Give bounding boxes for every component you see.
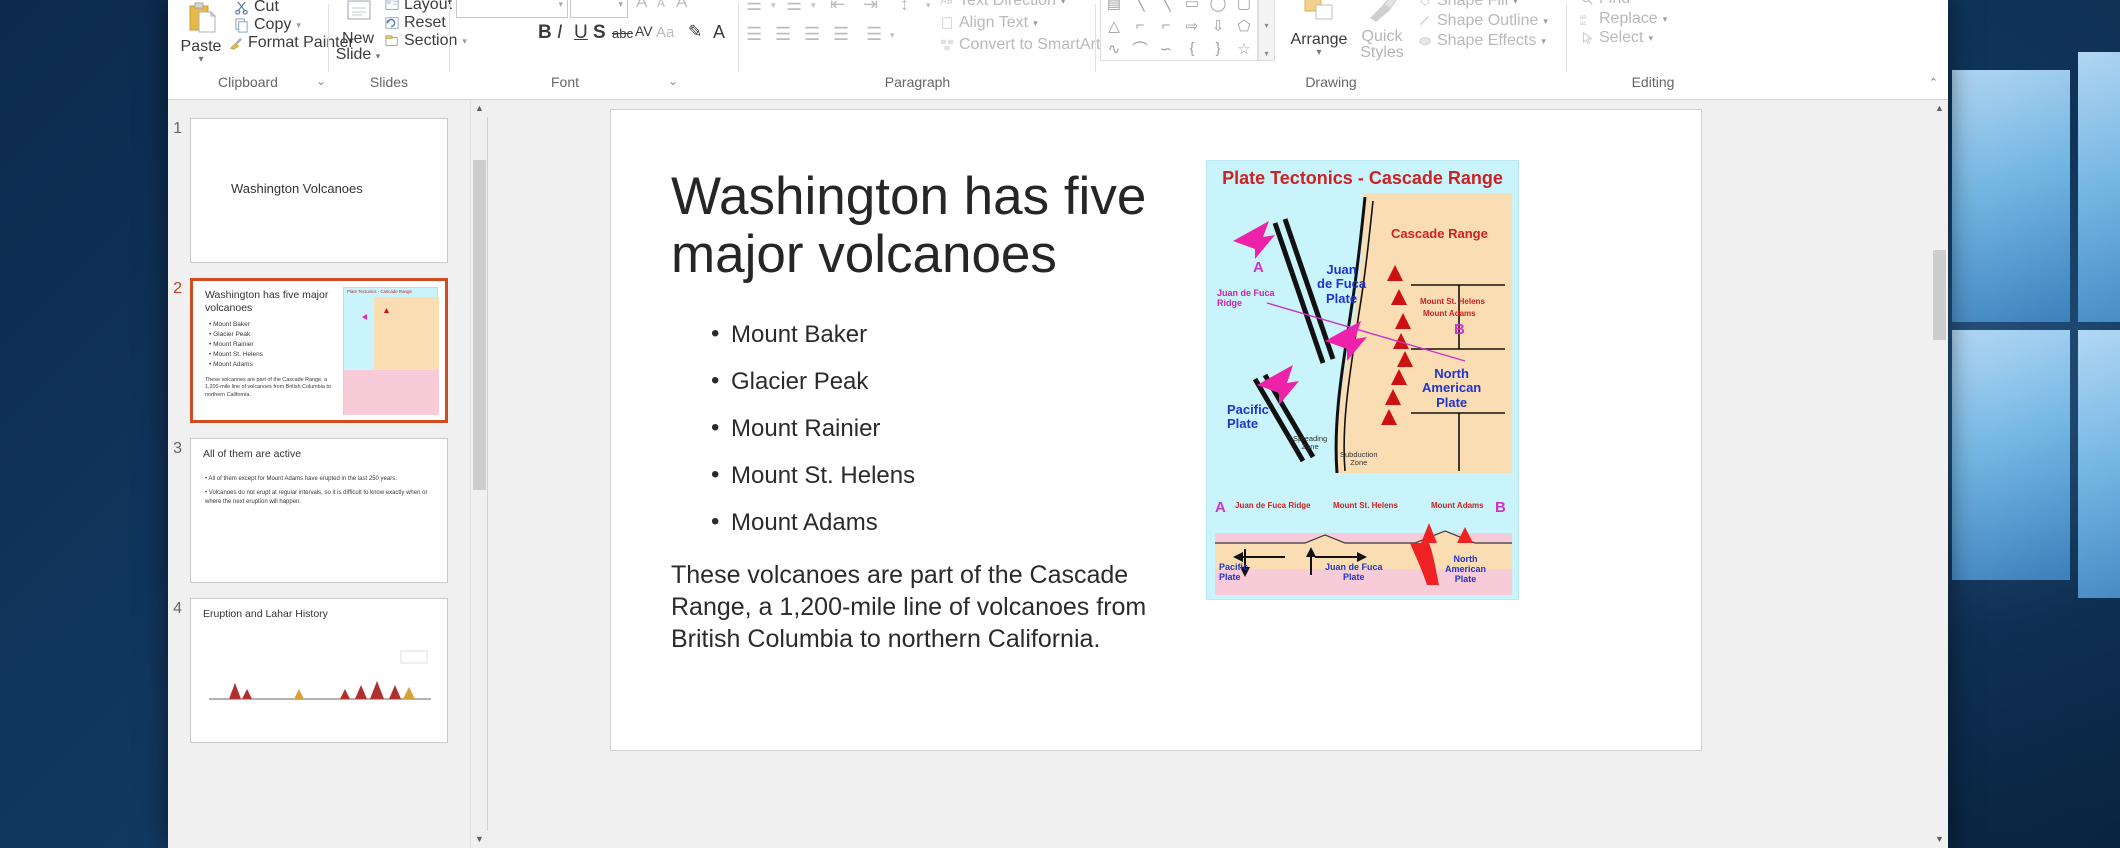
cursor-icon [1580, 31, 1594, 45]
slide-scroll-thumb[interactable] [1933, 250, 1946, 340]
align-center-button[interactable]: ☰ [775, 24, 791, 45]
diagram-title: Plate Tectonics - Cascade Range [1207, 168, 1518, 189]
thumbnail-number-1: 1 [168, 118, 190, 138]
ribbon-group-label-font: Font [450, 74, 680, 90]
shapes-more-icon[interactable]: ▾ [1264, 49, 1268, 58]
slide-pane-scrollbar[interactable]: ▲ ▼ [1931, 100, 1948, 848]
right-arrow-shape-icon[interactable]: ⇨ [1186, 17, 1199, 35]
new-slide-dropdown-caret[interactable]: ▾ [376, 51, 381, 61]
thumbnail-scroll-up-icon[interactable]: ▲ [471, 100, 488, 117]
reset-icon [385, 16, 399, 30]
reset-button[interactable]: Reset [385, 14, 446, 32]
diagram-label-point-a-map: A [1253, 259, 1264, 276]
right-brace-shape-icon[interactable]: } [1215, 40, 1220, 57]
replace-icon: ab ac [1580, 12, 1594, 26]
triangle-shape-icon[interactable]: △ [1108, 17, 1120, 35]
diagram-label-subduction-zone: SubductionZone [1340, 451, 1378, 468]
thumbnail-bullets-2: • Mount Baker • Glacier Peak • Mount Rai… [209, 321, 263, 371]
new-slide-label-line1: New [333, 31, 383, 46]
thumbnail-title-3: All of them are active [203, 448, 301, 460]
thumbnail-bullet-2-2: • Mount Rainier [209, 341, 263, 348]
thumbnail-number-4: 4 [168, 598, 190, 618]
replace-label: Replace [1599, 10, 1658, 28]
shape-effects-icon [1418, 34, 1432, 48]
text-direction-caret[interactable]: ▾ [1061, 0, 1066, 7]
thumbnail-row-3[interactable]: 3 All of them are active • All of them e… [168, 438, 468, 583]
elbow-arrow-connector-icon[interactable]: ⌐ [1162, 17, 1171, 34]
slide-scroll-up-icon[interactable]: ▲ [1931, 100, 1948, 117]
thumbnail-scroll-thumb[interactable] [473, 160, 486, 490]
thumbnail-number-3: 3 [168, 438, 190, 458]
diagram-label-spreading-zone: SpreadingZone [1293, 435, 1327, 452]
thumbnail-chart-4 [205, 645, 435, 715]
smartart-icon [940, 38, 954, 52]
ribbon-group-label-slides: Slides [329, 74, 449, 90]
ribbon-group-clipboard: Paste ▾ Cut Copy ▾ [168, 0, 328, 76]
replace-caret[interactable]: ▾ [1663, 14, 1668, 25]
quick-styles-icon [1362, 0, 1402, 24]
thumbnail-plate-arrow [362, 314, 369, 320]
thumbnail-number-2: 2 [168, 278, 190, 298]
ribbon-separator-5 [1566, 4, 1567, 72]
new-slide-icon [342, 0, 374, 30]
cut-label: Cut [254, 0, 279, 16]
diagram-label-point-b-map: B [1454, 321, 1465, 338]
ribbon-group-label-editing: Editing [1568, 74, 1738, 90]
shape-effects-caret[interactable]: ▾ [1541, 36, 1546, 47]
search-icon [1580, 0, 1594, 6]
increase-indent-button[interactable]: ⇥ [863, 0, 878, 15]
thumbnail-title-1: Washington Volcanoes [231, 181, 363, 196]
align-text-button[interactable]: Align Text ▾ [940, 14, 1038, 32]
shape-outline-icon [1418, 14, 1432, 28]
ribbon-group-editing: Find ab ac Replace ▾ Select ▾ Editing [1568, 0, 1738, 76]
shape-outline-button[interactable]: Shape Outline ▾ [1418, 12, 1548, 30]
shape-fill-label: Shape Fill [1437, 0, 1508, 10]
thumbnail-row-4[interactable]: 4 Eruption and Lahar History [168, 598, 468, 743]
arrange-dropdown-caret[interactable]: ▾ [1288, 49, 1350, 56]
work-area: 1 Washington Volcanoes 2 Washington has … [168, 100, 1948, 848]
underline-button[interactable]: U [574, 22, 588, 44]
shape-fill-caret[interactable]: ▾ [1513, 0, 1518, 7]
ribbon-group-label-drawing: Drawing [1096, 74, 1566, 90]
cross-section-label-point-b: B [1495, 499, 1506, 516]
line-spacing-button[interactable]: ↕ [900, 0, 909, 15]
convert-to-smartart-button[interactable]: Convert to SmartArt ▾ [940, 36, 1110, 54]
thumbnail-diagram-cross-section [344, 370, 439, 415]
text-direction-icon: AB [940, 0, 954, 8]
ribbon-group-label-clipboard: Clipboard [168, 74, 328, 90]
shape-fill-icon [1418, 0, 1432, 8]
ribbon: Paste ▾ Cut Copy ▾ [168, 0, 1948, 100]
shapes-scroll-down-icon[interactable]: ▾ [1264, 21, 1268, 30]
shrink-font-icon[interactable]: A [657, 0, 665, 10]
thumbnail-bullet-2-1: • Glacier Peak [209, 331, 263, 338]
thumbnail-row-2[interactable]: 2 Washington has five major volcanoes • … [168, 278, 468, 423]
line-arrow-shape-icon[interactable]: ╲ [1161, 0, 1170, 12]
powerpoint-window: Paste ▾ Cut Copy ▾ [168, 0, 1948, 848]
quick-styles-label-line1: Quick [1354, 29, 1410, 45]
curve-shape-icon[interactable]: ∽ [1160, 40, 1173, 58]
thumbnail-row-1[interactable]: 1 Washington Volcanoes [168, 118, 468, 263]
columns-dropdown-caret[interactable]: ▾ [890, 30, 895, 41]
scissors-icon [234, 0, 249, 15]
ribbon-group-font: ▾ ▾ A A A B I U S abc AV Aa Font ⌄ [450, 0, 680, 76]
convert-to-smartart-label: Convert to SmartArt [959, 36, 1100, 54]
layout-icon [385, 0, 399, 12]
ribbon-separator-3 [738, 4, 739, 72]
plate-tectonics-diagram[interactable]: Plate Tectonics - Cascade Range [1206, 160, 1519, 600]
select-label: Select [1599, 29, 1643, 47]
cross-section-label-point-a: A [1215, 499, 1226, 516]
clear-formatting-icon[interactable]: A [676, 0, 687, 12]
paste-icon [184, 2, 218, 36]
slide-bullet-4[interactable]: Mount Adams [711, 509, 1231, 537]
copy-button[interactable]: Copy ▾ [234, 16, 301, 34]
shape-outline-caret[interactable]: ▾ [1543, 16, 1548, 27]
windows-logo-pane-2 [2078, 52, 2120, 322]
cross-section-label-juan-de-fuca-ridge: Juan de Fuca Ridge [1235, 501, 1311, 510]
slide-thumbnail-2[interactable]: Washington has five major volcanoes • Mo… [190, 278, 448, 423]
cross-section-label-mount-adams: Mount Adams [1431, 501, 1484, 510]
thumbnail-diagram-title-2: Plate Tectonics - Cascade Range [347, 289, 412, 294]
slide-thumbnail-pane[interactable]: 1 Washington Volcanoes 2 Washington has … [168, 100, 488, 848]
windows-logo-pane-1 [1952, 70, 2070, 322]
font-dialog-launcher[interactable]: ⌄ [668, 74, 678, 88]
select-button[interactable]: Select ▾ [1580, 29, 1653, 47]
align-text-caret[interactable]: ▾ [1033, 18, 1038, 29]
shapes-scroll-up-icon[interactable]: ▴ [1264, 0, 1268, 2]
decrease-indent-button[interactable]: ⇤ [830, 0, 845, 15]
numbering-dropdown-caret[interactable]: ▾ [811, 0, 816, 11]
line-spacing-dropdown-caret[interactable]: ▾ [926, 0, 931, 11]
slide-bullet-1[interactable]: Glacier Peak [711, 368, 1231, 396]
diagram-label-juan-de-fuca-plate: Juande FucaPlate [1317, 263, 1366, 306]
line-shape-icon[interactable]: ╲ [1135, 0, 1144, 12]
thumbnail-bullet-3-1: • Volcanoes do not erupt at regular inte… [205, 489, 430, 507]
strikethrough-button[interactable]: abc [612, 26, 633, 41]
thumbnail-bullet-3-0: • All of them except for Mount Adams hav… [205, 475, 430, 484]
ribbon-collapse-icon[interactable]: ⌃ [1929, 76, 1938, 89]
diagram-label-cascade-range: Cascade Range [1391, 226, 1488, 241]
cut-button[interactable]: Cut [234, 0, 279, 16]
shape-effects-button[interactable]: Shape Effects ▾ [1418, 32, 1546, 50]
oval-shape-icon[interactable]: ◯ [1210, 0, 1227, 12]
slide-title[interactable]: Washington has five major volcanoes [671, 168, 1231, 285]
layout-label: Layout [404, 0, 452, 14]
bullets-dropdown-caret[interactable]: ▾ [771, 0, 776, 11]
slide-paragraph[interactable]: These volcanoes are part of the Cascade … [671, 560, 1191, 655]
svg-text:AB: AB [941, 0, 953, 6]
cross-section-label-north-american-plate: NorthAmericanPlate [1445, 555, 1486, 585]
paintbrush-icon [228, 36, 243, 51]
replace-button[interactable]: ab ac Replace ▾ [1580, 10, 1667, 28]
copy-label: Copy [254, 16, 291, 34]
textbox-shape-icon[interactable]: ▤ [1107, 0, 1121, 12]
svg-text:ac: ac [1580, 20, 1586, 26]
diagram-label-pacific-plate: PacificPlate [1227, 403, 1269, 432]
slide-bullet-2[interactable]: Mount Rainier [711, 415, 1231, 443]
arrange-icon [1299, 0, 1339, 26]
align-right-button[interactable]: ☰ [804, 24, 820, 45]
cross-section-label-pacific-plate: PacificPlate [1219, 563, 1248, 583]
new-slide-button[interactable]: New Slide ▾ [333, 0, 383, 64]
justify-button[interactable]: ☰ [833, 24, 849, 45]
columns-button[interactable]: ☰ [866, 24, 882, 45]
windows-logo-pane-4 [2078, 330, 2120, 598]
shape-outline-label: Shape Outline [1437, 12, 1538, 30]
font-name-caret[interactable]: ▾ [558, 0, 563, 10]
font-size-input[interactable]: ▾ [570, 0, 628, 18]
reset-label: Reset [404, 14, 446, 32]
thumbnail-title-2: Washington has five major volcanoes [205, 289, 340, 314]
align-text-label: Align Text [959, 14, 1028, 32]
windows-logo-pane-3 [1952, 330, 2070, 580]
diagram-label-north-american-plate: NorthAmericanPlate [1422, 367, 1481, 410]
slide-bullet-list[interactable]: Mount Baker Glacier Peak Mount Rainier M… [671, 321, 1231, 556]
font-size-caret[interactable]: ▾ [618, 0, 623, 10]
font-name-input[interactable]: ▾ [456, 0, 568, 18]
ribbon-group-slides: New Slide ▾ Layout ▾ [329, 0, 449, 76]
pentagon-shape-icon[interactable]: ⬠ [1237, 17, 1250, 35]
find-label: Find [1599, 0, 1630, 8]
character-spacing-button[interactable]: AV [635, 23, 653, 39]
ribbon-group-drawing: ▤ ╲ ╲ ▭ ◯ ▢ △ ⌐ ⌐ ⇨ ⇩ ⬠ ∿ ⌒ ∽ { } ☆ ▴ [1096, 0, 1596, 76]
cross-section-label-mount-st-helens: Mount St. Helens [1333, 501, 1398, 510]
section-icon [385, 34, 399, 48]
arc-shape-icon[interactable]: ⌒ [1132, 38, 1147, 59]
shape-effects-label: Shape Effects [1437, 32, 1536, 50]
slide-editing-pane[interactable]: Washington has five major volcanoes Moun… [488, 100, 1948, 848]
text-direction-label: Text Direction [959, 0, 1056, 10]
slide-thumbnail-1[interactable]: Washington Volcanoes [190, 118, 448, 263]
slide-thumbnail-3[interactable]: All of them are active • All of them exc… [190, 438, 448, 583]
shape-fill-button[interactable]: Shape Fill ▾ [1418, 0, 1518, 10]
rounded-rect-shape-icon[interactable]: ▢ [1237, 0, 1251, 12]
rectangle-shape-icon[interactable]: ▭ [1185, 0, 1199, 12]
cross-section-label-juan-de-fuca-plate: Juan de FucaPlate [1325, 563, 1383, 583]
copy-dropdown-caret[interactable]: ▾ [296, 20, 301, 31]
clipboard-dialog-launcher[interactable]: ⌄ [316, 74, 326, 88]
numbering-button[interactable]: ☰ [786, 0, 802, 15]
grow-font-icon[interactable]: A [636, 0, 647, 12]
thumbnail-footnote-text-2: These volcanoes are part of the Cascade … [205, 377, 335, 399]
elbow-connector-icon[interactable]: ⌐ [1136, 17, 1145, 34]
thumbnail-scrollbar[interactable]: ▲ ▼ [470, 100, 487, 848]
align-left-button[interactable]: ☰ [746, 24, 762, 45]
scribble-shape-icon[interactable]: ∿ [1108, 40, 1121, 58]
text-direction-button[interactable]: AB Text Direction ▾ [940, 0, 1065, 10]
thumbnail-diagram-2: Plate Tectonics - Cascade Range [343, 287, 438, 415]
text-highlight-button[interactable]: ✎ [688, 22, 702, 42]
find-button[interactable]: Find [1580, 0, 1630, 8]
thumbnail-title-4: Eruption and Lahar History [203, 608, 328, 620]
thumbnail-diagram-land [374, 297, 439, 369]
text-shadow-button[interactable]: S [593, 22, 606, 44]
shapes-gallery-scrollbar[interactable]: ▴ ▾ ▾ [1258, 0, 1275, 61]
slide-thumbnail-4[interactable]: Eruption and Lahar History [190, 598, 448, 743]
thumbnail-footnote-2: These volcanoes are part of the Cascade … [205, 377, 335, 402]
star-shape-icon[interactable]: ☆ [1237, 40, 1250, 58]
thumbnail-bullet-2-4: • Mount Adams [209, 361, 263, 368]
quick-styles-label-line2: Styles [1354, 45, 1410, 61]
bold-button[interactable]: B [538, 22, 552, 44]
copy-icon [234, 18, 249, 33]
slide-bullet-3[interactable]: Mount St. Helens [711, 462, 1231, 490]
change-case-button[interactable]: Aa [656, 24, 674, 41]
new-slide-label-line2: Slide [336, 47, 372, 62]
left-brace-shape-icon[interactable]: { [1189, 40, 1194, 57]
paste-dropdown-caret[interactable]: ▾ [174, 56, 228, 63]
diagram-label-juan-de-fuca-ridge: Juan de FucaRidge [1217, 289, 1275, 309]
font-color-button[interactable]: A [713, 22, 725, 43]
select-caret[interactable]: ▾ [1648, 33, 1653, 44]
thumbnail-bullet-2-3: • Mount St. Helens [209, 351, 263, 358]
thumbnail-bullets-3: • All of them except for Mount Adams hav… [205, 475, 430, 510]
diagram-label-mount-adams: Mount Adams [1423, 309, 1476, 318]
paste-button[interactable]: Paste ▾ [174, 2, 228, 63]
italic-button[interactable]: I [557, 22, 562, 44]
ribbon-group-label-paragraph: Paragraph [740, 74, 1095, 90]
slide-bullet-0[interactable]: Mount Baker [711, 321, 1231, 349]
current-slide[interactable]: Washington has five major volcanoes Moun… [611, 110, 1701, 750]
ribbon-group-paragraph: ☰ ▾ ☰ ▾ ⇤ ⇥ ↕ ▾ ☰ ☰ ☰ ☰ ☰ ▾ AB Text Dire… [740, 0, 1095, 76]
thumbnail-bullet-2-0: • Mount Baker [209, 321, 263, 328]
slide-scroll-down-icon[interactable]: ▼ [1931, 831, 1948, 848]
diagram-label-mount-st-helens: Mount St. Helens [1420, 297, 1485, 306]
arrange-button[interactable]: Arrange ▾ [1288, 0, 1350, 56]
down-arrow-shape-icon[interactable]: ⇩ [1212, 17, 1225, 35]
align-text-icon [940, 16, 954, 30]
quick-styles-button[interactable]: Quick Styles [1354, 0, 1410, 61]
shapes-gallery[interactable]: ▤ ╲ ╲ ▭ ◯ ▢ △ ⌐ ⌐ ⇨ ⇩ ⬠ ∿ ⌒ ∽ { } ☆ [1100, 0, 1258, 61]
thumbnail-scroll-down-icon[interactable]: ▼ [471, 831, 488, 848]
bullets-button[interactable]: ☰ [746, 0, 762, 15]
